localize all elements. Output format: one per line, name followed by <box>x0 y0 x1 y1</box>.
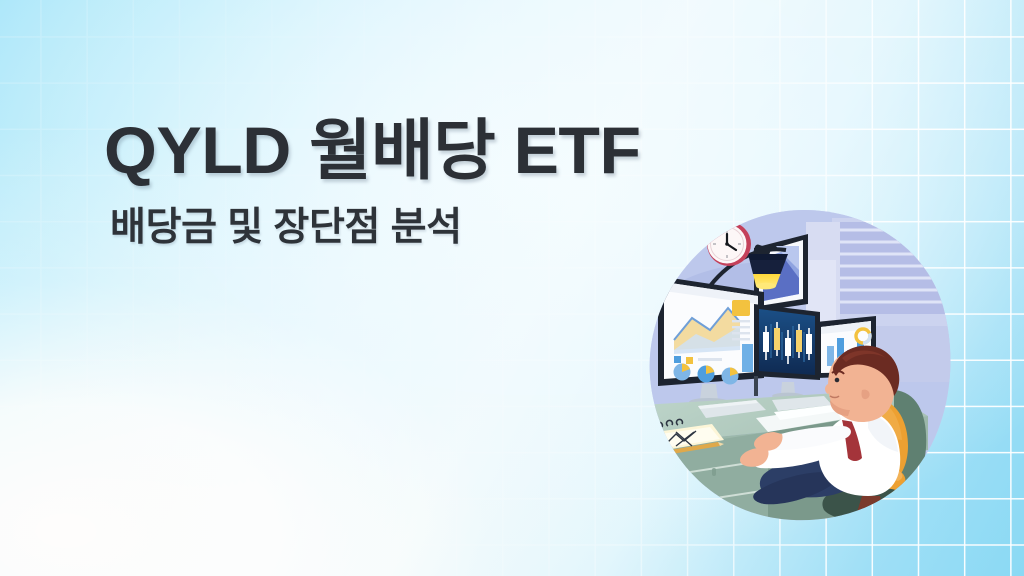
page-subtitle: 배당금 및 장단점 분석 <box>110 206 684 250</box>
wall-clock <box>707 222 751 266</box>
thumbnail-canvas: QYLD 월배당 ETF 배당금 및 장단점 분석 <box>0 0 1024 576</box>
stock-trader-illustration <box>636 200 966 530</box>
text-block: QYLD 월배당 ETF 배당금 및 장단점 분석 <box>104 116 684 250</box>
illustration-blob-background <box>636 200 966 530</box>
page-title: QYLD 월배당 ETF <box>104 116 701 186</box>
